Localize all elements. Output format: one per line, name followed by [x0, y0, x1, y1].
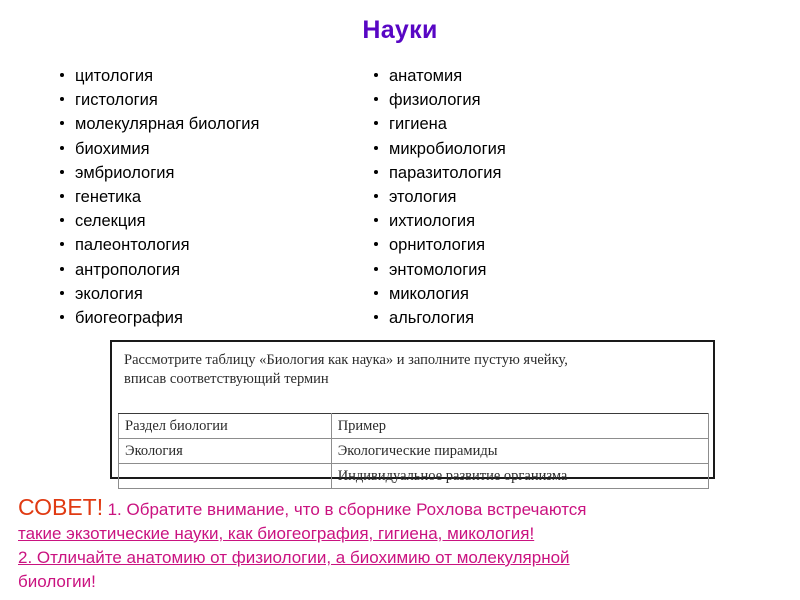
table-cell-example: Индивидуальное развитие организма — [331, 464, 708, 489]
table-row-header: Раздел биологии Пример — [119, 414, 709, 439]
list-item-label: паразитология — [389, 164, 501, 182]
bullet-dot-icon — [60, 218, 64, 222]
bullet-dot-icon — [60, 170, 64, 174]
list-item: селекция — [58, 209, 358, 233]
list-item-label: энтомология — [389, 261, 486, 279]
list-item-label: анатомия — [389, 67, 462, 85]
list-item: антропология — [58, 258, 358, 282]
list-item-label: генетика — [75, 188, 141, 206]
bullet-dot-icon — [60, 121, 64, 125]
list-item: энтомология — [372, 258, 672, 282]
science-column-right: анатомия физиология гигиена микробиологи… — [372, 64, 672, 330]
list-item-label: этология — [389, 188, 456, 206]
list-item: гистология — [58, 88, 358, 112]
bullet-dot-icon — [60, 267, 64, 271]
science-list-columns: цитология гистология молекулярная биолог… — [0, 64, 800, 334]
list-item-label: антропология — [75, 261, 180, 279]
page-title: Науки — [0, 16, 800, 45]
table-cell-example: Экологические пирамиды — [331, 439, 708, 464]
list-item-label: физиология — [389, 91, 481, 109]
list-item: цитология — [58, 64, 358, 88]
list-item-label: ихтиология — [389, 212, 475, 230]
advice-heading: СОВЕТ! — [18, 494, 103, 520]
table-header-cell-section: Раздел биологии — [119, 414, 332, 439]
biology-table: Раздел биологии Пример Экология Экологич… — [118, 413, 709, 489]
bullet-dot-icon — [60, 315, 64, 319]
bullet-dot-icon — [60, 194, 64, 198]
bullet-dot-icon — [60, 242, 64, 246]
list-item: биохимия — [58, 137, 358, 161]
list-item: эмбриология — [58, 161, 358, 185]
bullet-dot-icon — [60, 97, 64, 101]
bullet-dot-icon — [374, 218, 378, 222]
list-item-label: микология — [389, 285, 469, 303]
bullet-dot-icon — [374, 242, 378, 246]
table-row: Экология Экологические пирамиды — [119, 439, 709, 464]
bullet-dot-icon — [60, 73, 64, 77]
list-item: ихтиология — [372, 209, 672, 233]
bullet-dot-icon — [374, 291, 378, 295]
bullet-dot-icon — [374, 315, 378, 319]
list-item: микология — [372, 282, 672, 306]
table-cell-section-empty — [119, 464, 332, 489]
list-item: генетика — [58, 185, 358, 209]
list-item-label: цитология — [75, 67, 153, 85]
science-list-right: анатомия физиология гигиена микробиологи… — [372, 64, 672, 330]
list-item-label: микробиология — [389, 140, 506, 158]
list-item: биогеография — [58, 306, 358, 330]
table-row: Индивидуальное развитие организма — [119, 464, 709, 489]
list-item-label: молекулярная биология — [75, 115, 259, 133]
task-figure: Рассмотрите таблицу «Биология как наука»… — [110, 340, 715, 479]
list-item-label: эмбриология — [75, 164, 174, 182]
bullet-dot-icon — [374, 73, 378, 77]
advice-first-row: СОВЕТ! 1. Обратите внимание, что в сборн… — [18, 494, 788, 522]
list-item-label: гигиена — [389, 115, 447, 133]
bullet-dot-icon — [60, 291, 64, 295]
list-item: экология — [58, 282, 358, 306]
task-prompt: Рассмотрите таблицу «Биология как наука»… — [112, 342, 713, 389]
advice-line-3: 2. Отличайте анатомию от физиологии, а б… — [18, 546, 788, 570]
list-item-label: биохимия — [75, 140, 150, 158]
bullet-dot-icon — [374, 267, 378, 271]
list-item: орнитология — [372, 233, 672, 257]
table-header-cell-example: Пример — [331, 414, 708, 439]
list-item: альгология — [372, 306, 672, 330]
list-item-label: селекция — [75, 212, 146, 230]
list-item-label: гистология — [75, 91, 158, 109]
science-list-left: цитология гистология молекулярная биолог… — [58, 64, 358, 330]
list-item: анатомия — [372, 64, 672, 88]
table-cell-section: Экология — [119, 439, 332, 464]
bullet-dot-icon — [374, 121, 378, 125]
advice-block: СОВЕТ! 1. Обратите внимание, что в сборн… — [18, 494, 788, 594]
task-prompt-line-2: вписав соответствующий термин — [124, 370, 701, 389]
advice-line-1: 1. Обратите внимание, что в сборнике Рох… — [108, 500, 587, 519]
list-item-label: орнитология — [389, 236, 485, 254]
task-prompt-line-1: Рассмотрите таблицу «Биология как наука»… — [124, 351, 701, 370]
bullet-dot-icon — [374, 146, 378, 150]
list-item-label: палеонтология — [75, 236, 190, 254]
list-item: палеонтология — [58, 233, 358, 257]
list-item-label: экология — [75, 285, 143, 303]
list-item-label: биогеография — [75, 309, 183, 327]
bullet-dot-icon — [60, 146, 64, 150]
science-column-left: цитология гистология молекулярная биолог… — [58, 64, 358, 330]
advice-line-2: такие экзотические науки, как биогеограф… — [18, 522, 788, 546]
bullet-dot-icon — [374, 170, 378, 174]
list-item-label: альгология — [389, 309, 474, 327]
bullet-dot-icon — [374, 194, 378, 198]
list-item: молекулярная биология — [58, 112, 358, 136]
advice-line-4: биологии! — [18, 570, 788, 594]
list-item: этология — [372, 185, 672, 209]
bullet-dot-icon — [374, 97, 378, 101]
list-item: паразитология — [372, 161, 672, 185]
list-item: микробиология — [372, 137, 672, 161]
list-item: физиология — [372, 88, 672, 112]
list-item: гигиена — [372, 112, 672, 136]
